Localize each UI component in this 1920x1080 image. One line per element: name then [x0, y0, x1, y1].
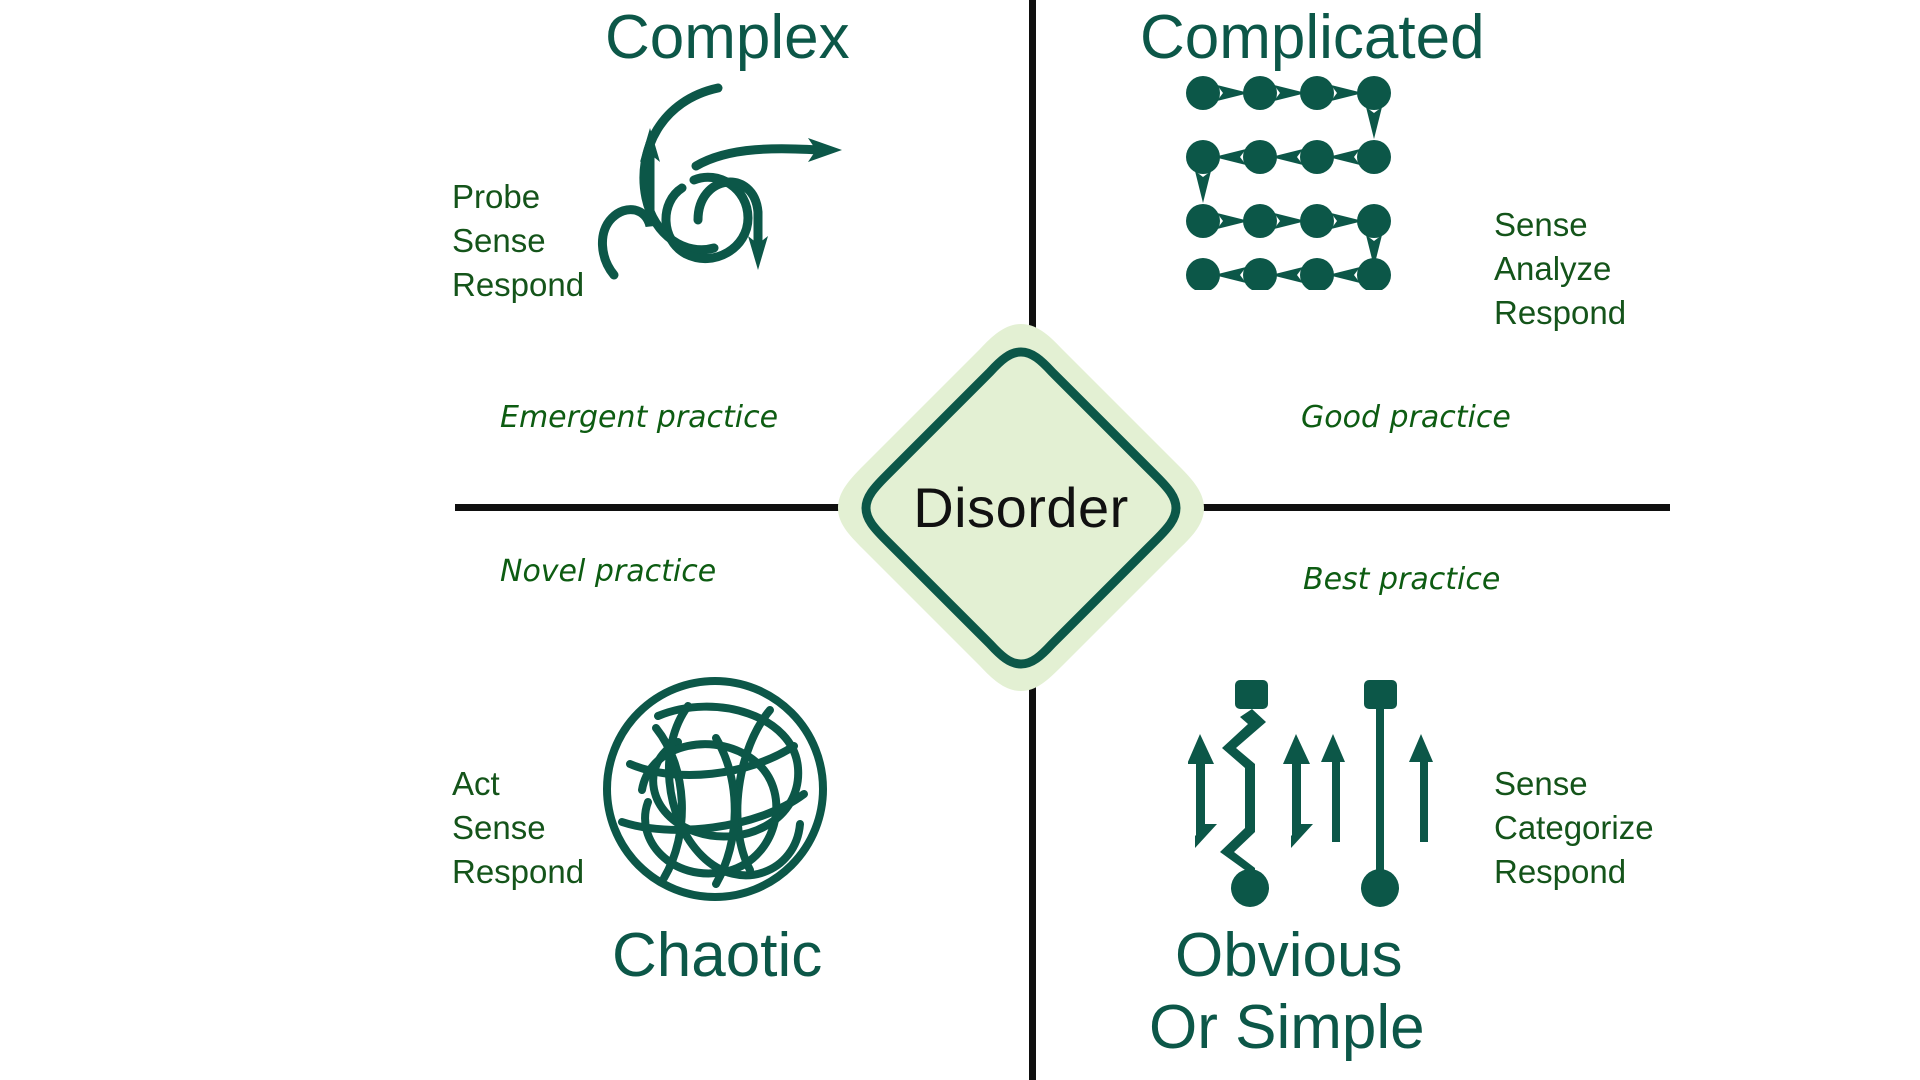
serpentine-nodes-icon: [1185, 75, 1425, 290]
quadrant-title-complicated: Complicated: [1140, 7, 1485, 69]
curved-arrows-icon: [590, 70, 870, 300]
parallel-arrows-icon: [1188, 672, 1433, 917]
action-word: Probe: [452, 175, 584, 219]
disorder-node: Disorder: [826, 312, 1216, 702]
practice-label-good: Good practice: [1301, 400, 1511, 435]
actions-chaotic: Act Sense Respond: [452, 762, 584, 894]
action-word: Respond: [1494, 291, 1626, 335]
quadrant-title-obvious-line2: Or Simple: [1149, 997, 1425, 1059]
actions-complicated: Sense Analyze Respond: [1494, 203, 1626, 335]
action-word: Respond: [1494, 850, 1654, 894]
tangled-scribble-icon: [598, 672, 833, 907]
action-word: Analyze: [1494, 247, 1626, 291]
actions-obvious: Sense Categorize Respond: [1494, 762, 1654, 894]
quadrant-title-obvious-line1: Obvious: [1175, 921, 1402, 990]
quadrant-title-complex: Complex: [605, 7, 850, 69]
quadrant-title-chaotic: Chaotic: [612, 925, 822, 987]
action-word: Act: [452, 762, 584, 806]
practice-label-novel: Novel practice: [500, 554, 716, 589]
action-word: Respond: [452, 850, 584, 894]
action-word: Sense: [1494, 762, 1654, 806]
action-word: Respond: [452, 263, 584, 307]
cynefin-diagram: Complex Probe Sense Respond Emergent pra…: [0, 0, 1920, 1080]
practice-label-emergent: Emergent practice: [500, 400, 778, 435]
action-word: Categorize: [1494, 806, 1654, 850]
action-word: Sense: [452, 806, 584, 850]
actions-complex: Probe Sense Respond: [452, 175, 584, 307]
disorder-label: Disorder: [826, 312, 1216, 702]
action-word: Sense: [452, 219, 584, 263]
action-word: Sense: [1494, 203, 1626, 247]
practice-label-best: Best practice: [1303, 562, 1500, 597]
quadrant-title-obvious: Obvious Or Simple: [1175, 925, 1425, 1059]
